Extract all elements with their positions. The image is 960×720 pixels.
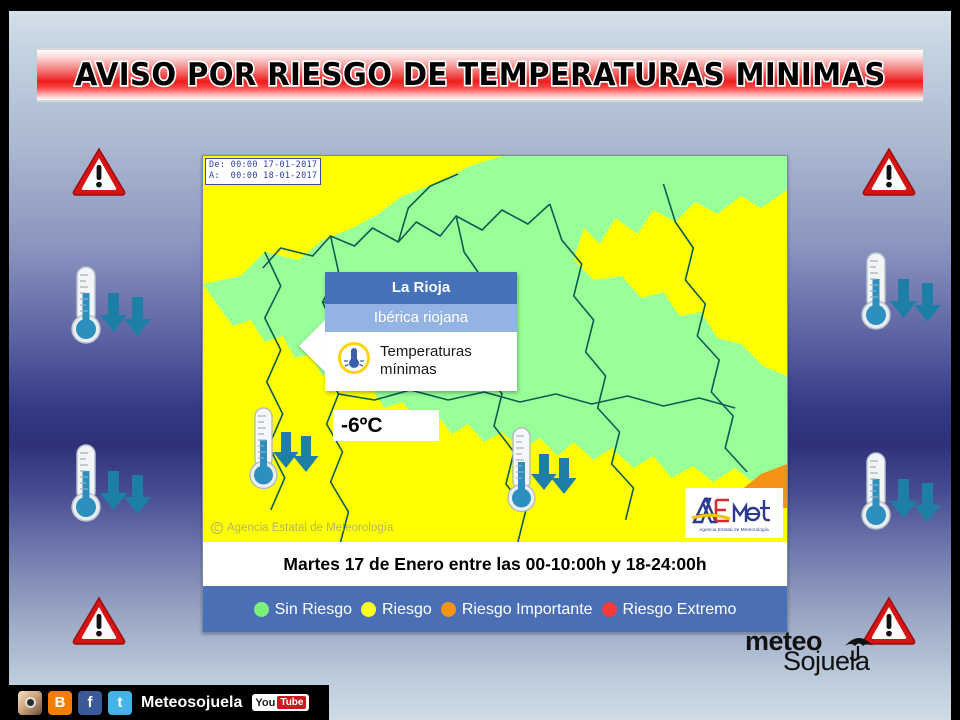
legend-item-riesgo: Riesgo — [361, 601, 432, 619]
copyright-icon: C — [211, 522, 223, 534]
blogger-icon[interactable]: B — [48, 691, 72, 715]
warning-period-caption: Martes 17 de Enero entre las 00-10:00h y… — [203, 542, 787, 586]
legend-dot-icon — [602, 602, 617, 617]
risk-legend: Sin Riesgo Riesgo Riesgo Importante Ries… — [203, 586, 787, 633]
warning-triangle-icon — [861, 145, 917, 202]
warning-map-card: De: 00:00 17-01-2017 A: 00:00 18-01-2017 — [202, 155, 788, 633]
watermark-text: Agencia Estatal de Meteorología — [227, 522, 393, 534]
legend-label: Sin Riesgo — [275, 601, 352, 619]
callout-arrow-icon — [299, 320, 325, 372]
legend-label: Riesgo Extremo — [623, 601, 737, 619]
aemet-wordmark-icon — [690, 494, 778, 526]
meteosojuela-logo: meteo Sojuela — [735, 624, 903, 684]
legend-item-riesgo-extremo: Riesgo Extremo — [602, 601, 737, 619]
instagram-icon[interactable] — [18, 691, 42, 715]
blogger-glyph: B — [55, 694, 66, 711]
twitter-glyph: t — [118, 694, 123, 711]
callout-phenomenon: Temperaturas mínimas — [380, 343, 507, 379]
validity-date-stamp: De: 00:00 17-01-2017 A: 00:00 18-01-2017 — [205, 158, 321, 185]
legend-item-riesgo-importante: Riesgo Importante — [441, 601, 593, 619]
thermometer-falling-icon — [64, 263, 154, 356]
callout-body: Temperaturas mínimas — [325, 332, 517, 391]
twitter-icon[interactable]: t — [108, 691, 132, 715]
thermometer-falling-icon — [854, 249, 944, 342]
aemet-logo: Agencia Estatal de Meteorología — [685, 488, 783, 538]
umbrella-icon — [843, 632, 875, 667]
weather-warning-poster: AVISO POR RIESGO DE TEMPERATURAS MINIMAS — [0, 0, 960, 720]
legend-dot-icon — [361, 602, 376, 617]
aemet-subtitle: Agencia Estatal de Meteorología — [699, 527, 769, 532]
region-callout[interactable]: La Rioja Ibérica riojana — [325, 272, 517, 391]
thermometer-falling-icon — [499, 424, 585, 529]
aemet-watermark: C Agencia Estatal de Meteorología — [211, 522, 393, 534]
youtube-you-text: You — [255, 697, 275, 709]
warning-triangle-icon — [71, 145, 127, 202]
legend-item-sin-riesgo: Sin Riesgo — [254, 601, 352, 619]
warning-triangle-icon — [71, 594, 127, 651]
callout-region-name: La Rioja — [325, 272, 517, 304]
facebook-glyph: f — [88, 694, 93, 711]
risk-map[interactable]: De: 00:00 17-01-2017 A: 00:00 18-01-2017 — [203, 156, 787, 542]
youtube-tube-text: Tube — [277, 696, 306, 709]
thermometer-falling-icon — [854, 449, 944, 542]
legend-dot-icon — [254, 602, 269, 617]
minimum-temperature-badge: -6ºC — [333, 410, 439, 441]
legend-dot-icon — [441, 602, 456, 617]
social-media-bar: B f t Meteosojuela You Tube — [9, 685, 329, 720]
youtube-icon[interactable]: You Tube — [252, 694, 309, 711]
thermometer-low-icon — [337, 341, 371, 380]
facebook-icon[interactable]: f — [78, 691, 102, 715]
page-title: AVISO POR RIESGO DE TEMPERATURAS MINIMAS — [75, 57, 886, 93]
thermometer-falling-icon — [241, 404, 327, 505]
caption-text: Martes 17 de Enero entre las 00-10:00h y… — [283, 554, 706, 575]
title-banner: AVISO POR RIESGO DE TEMPERATURAS MINIMAS — [37, 48, 923, 102]
legend-label: Riesgo — [382, 601, 432, 619]
social-handle: Meteosojuela — [141, 694, 242, 712]
legend-label: Riesgo Importante — [462, 601, 593, 619]
thermometer-falling-icon — [64, 441, 154, 534]
callout-zone-name: Ibérica riojana — [325, 304, 517, 332]
